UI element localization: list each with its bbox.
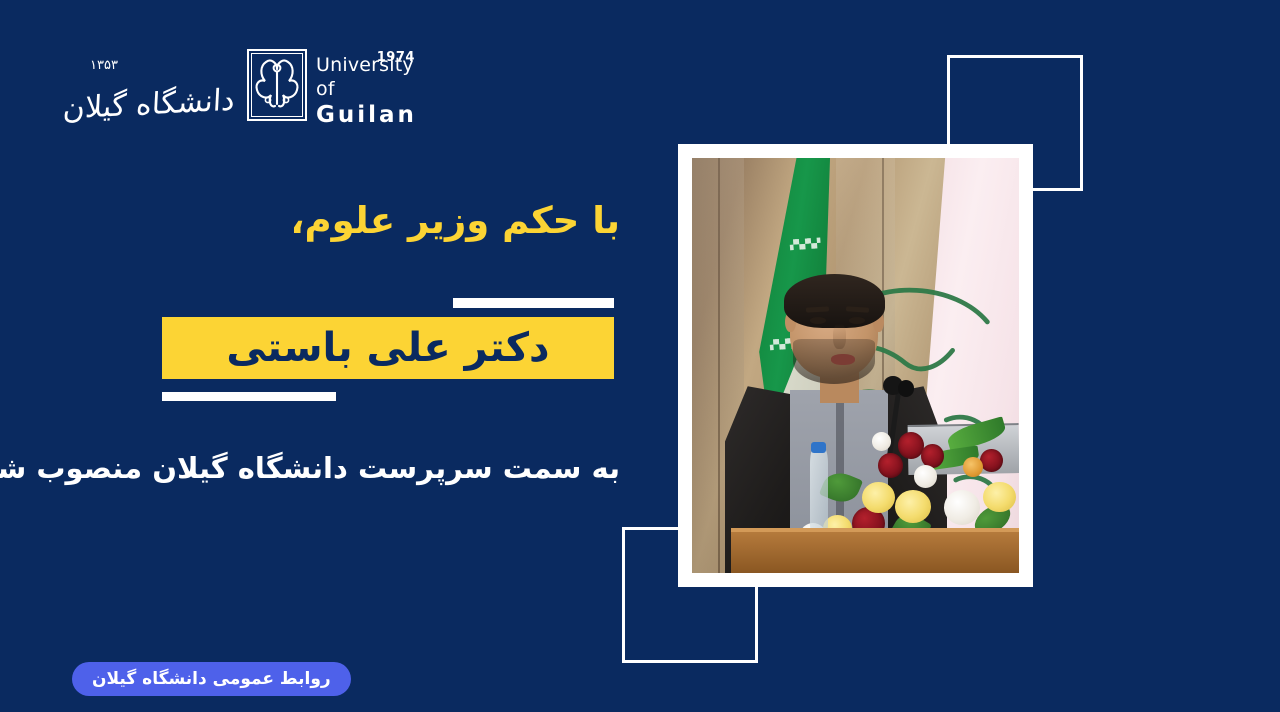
rule-above-name <box>453 298 614 308</box>
speaker-photo-frame: ▞▚▞▚▞ ▞▚▞▚▞ <box>678 144 1033 587</box>
water-bottle <box>810 449 828 532</box>
yellow-lily <box>983 482 1016 513</box>
headline-top: با حکم وزیر علوم، <box>290 196 620 246</box>
logo-persian-year: ۱۳۵۳ <box>90 58 118 73</box>
water-bottle-cap <box>811 442 826 453</box>
appointee-name: دکتر علی باستی <box>226 328 549 368</box>
logo-persian-name: دانشگاه گیلان <box>62 85 240 132</box>
logo-persian-wordmark: ۱۳۵۳ دانشگاه گیلان <box>88 42 238 128</box>
red-rose <box>980 449 1003 472</box>
microphone-head <box>898 380 914 397</box>
announcement-poster: ۱۳۵۳ دانشگاه گیلان 1974 University of Gu… <box>0 0 1280 712</box>
white-rose <box>944 490 980 525</box>
speaker-mouth <box>831 354 856 365</box>
subheadline: به سمت سرپرست دانشگاه گیلان منصوب شد <box>0 448 620 489</box>
speaker-photo: ▞▚▞▚▞ ▞▚▞▚▞ <box>692 158 1019 573</box>
logo-english-wordmark: 1974 University of Guilan <box>316 48 417 122</box>
speaker-eye <box>810 317 826 324</box>
public-relations-badge-label: روابط عمومی دانشگاه گیلان <box>92 671 331 688</box>
name-highlight-band: دکتر علی باستی <box>162 317 614 379</box>
red-rose <box>878 453 903 478</box>
speaker-hair <box>784 274 885 328</box>
university-logo: ۱۳۵۳ دانشگاه گیلان 1974 University of Gu… <box>88 42 408 128</box>
yellow-lily <box>895 490 931 523</box>
guilan-emblem-icon <box>246 48 308 122</box>
orange-flower <box>963 457 983 477</box>
logo-gregorian-year: 1974 <box>377 50 415 65</box>
rule-below-name <box>162 392 336 401</box>
logo-english-line2: Guilan <box>316 102 417 130</box>
podium <box>731 532 1019 574</box>
yellow-lily <box>862 482 895 513</box>
public-relations-badge[interactable]: روابط عمومی دانشگاه گیلان <box>72 662 351 696</box>
white-rose <box>914 465 937 487</box>
